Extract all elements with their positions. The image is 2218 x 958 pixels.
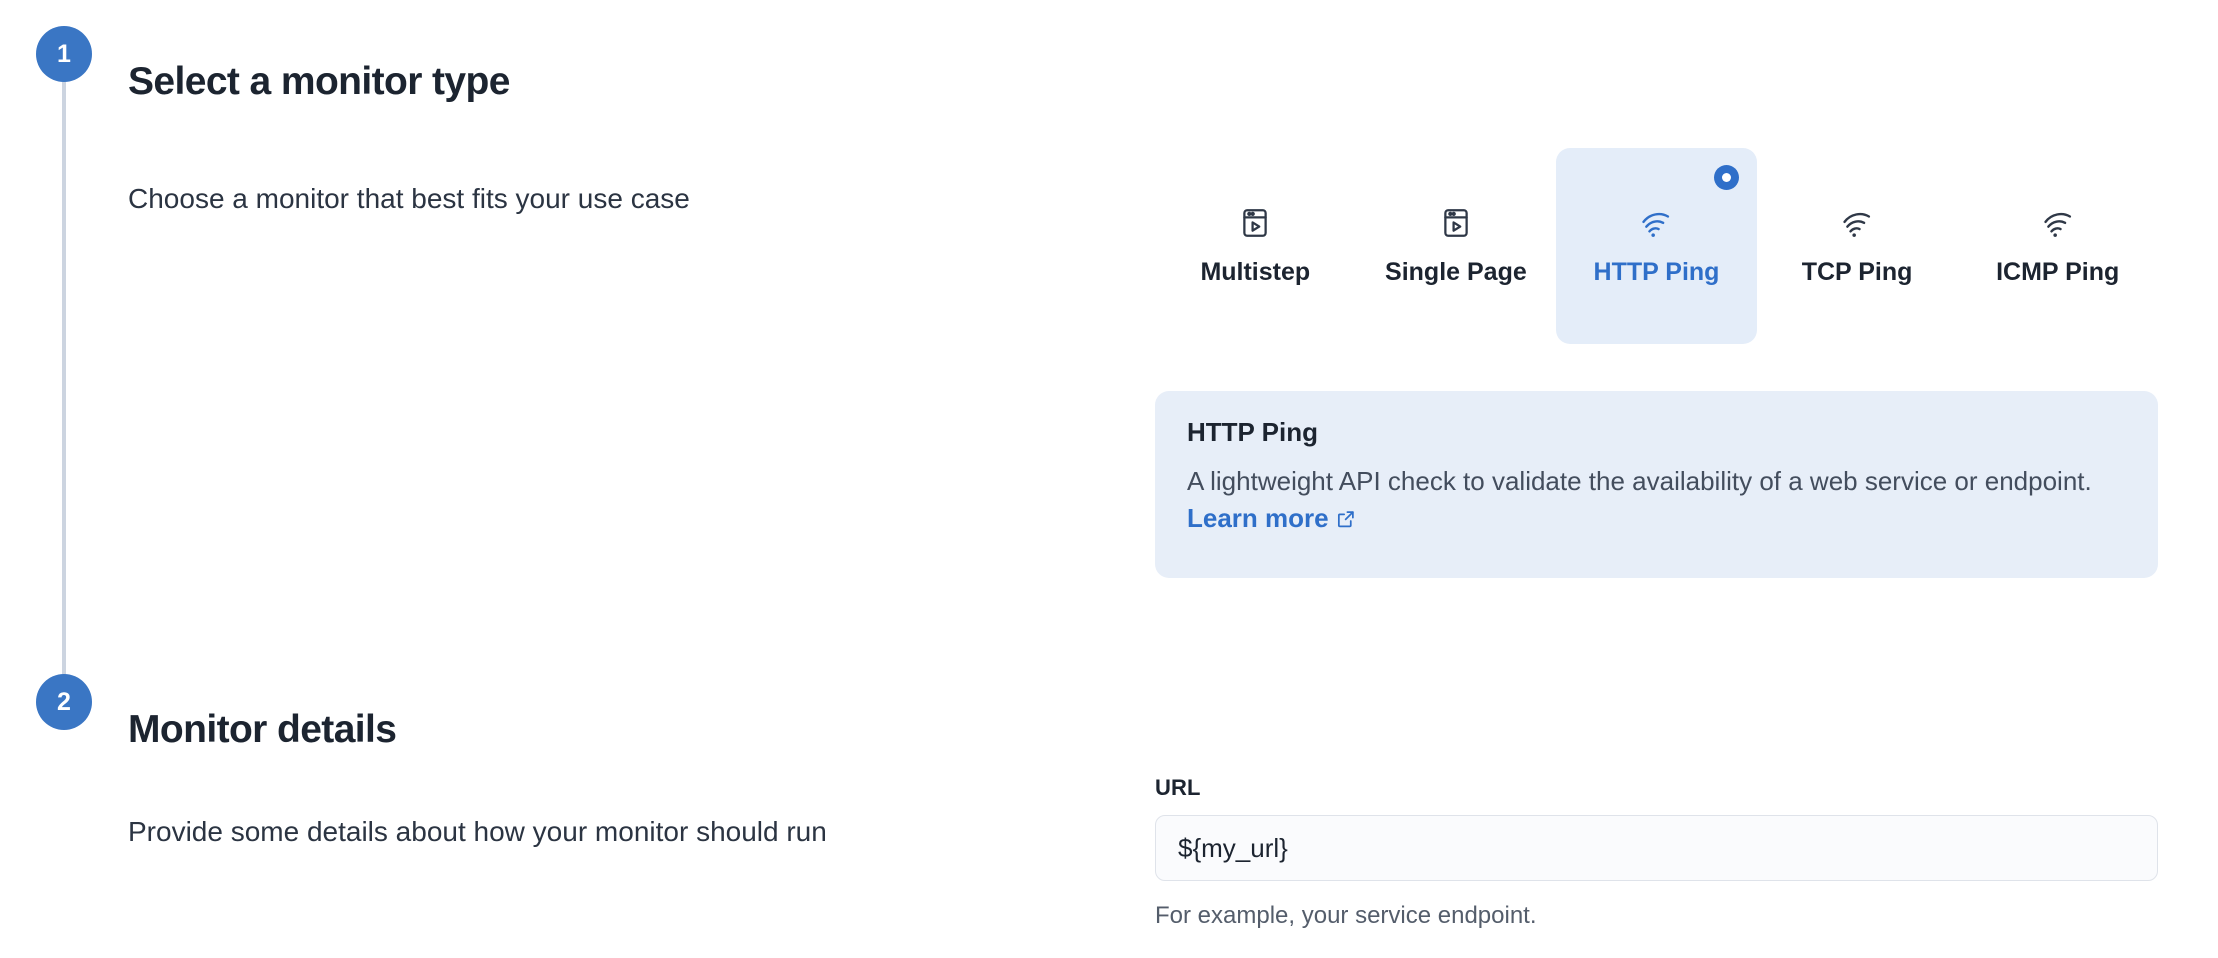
info-panel-description: A lightweight API check to validate the … [1187,466,2092,496]
wifi-ping-icon [1639,206,1673,240]
monitor-type-selector: Multistep Single Page [1155,148,2158,344]
wifi-ping-icon [1840,206,1874,240]
browser-play-icon [1238,206,1272,240]
url-field-label: URL [1155,777,1201,799]
monitor-type-label: TCP Ping [1802,260,1913,285]
step-badge-2: 2 [36,674,92,730]
radio-selected-icon[interactable] [1714,165,1739,190]
info-panel-title: HTTP Ping [1187,419,2126,445]
monitor-setup-page: 1 2 Select a monitor type Choose a monit… [0,0,2218,958]
monitor-type-label: Multistep [1200,260,1310,285]
monitor-type-option-icmp-ping[interactable]: ICMP Ping [1957,148,2158,344]
monitor-type-label: ICMP Ping [1996,260,2119,285]
monitor-type-info-panel: HTTP Ping A lightweight API check to val… [1155,391,2158,578]
step-number-1: 1 [57,42,71,67]
step-2-title: Monitor details [128,710,396,749]
monitor-type-option-http-ping[interactable]: HTTP Ping [1556,148,1757,344]
step-2-subtitle: Provide some details about how your moni… [128,814,827,849]
step-1-title: Select a monitor type [128,62,510,101]
monitor-type-option-single-page[interactable]: Single Page [1356,148,1557,344]
url-input[interactable] [1155,815,2158,881]
monitor-type-label: Single Page [1385,260,1527,285]
monitor-type-option-tcp-ping[interactable]: TCP Ping [1757,148,1958,344]
step-1-subtitle: Choose a monitor that best fits your use… [128,181,690,216]
info-panel-description-wrap: A lightweight API check to validate the … [1187,463,2126,537]
external-link-icon[interactable] [1335,503,1357,525]
stepper-connector-line [62,76,66,706]
wifi-ping-icon [2041,206,2075,240]
browser-play-icon [1439,206,1473,240]
step-badge-1: 1 [36,26,92,82]
monitor-type-label: HTTP Ping [1594,260,1720,285]
monitor-type-option-multistep[interactable]: Multistep [1155,148,1356,344]
url-field-help-text: For example, your service endpoint. [1155,904,1537,928]
learn-more-link[interactable]: Learn more [1187,503,1329,533]
step-number-2: 2 [57,690,71,715]
